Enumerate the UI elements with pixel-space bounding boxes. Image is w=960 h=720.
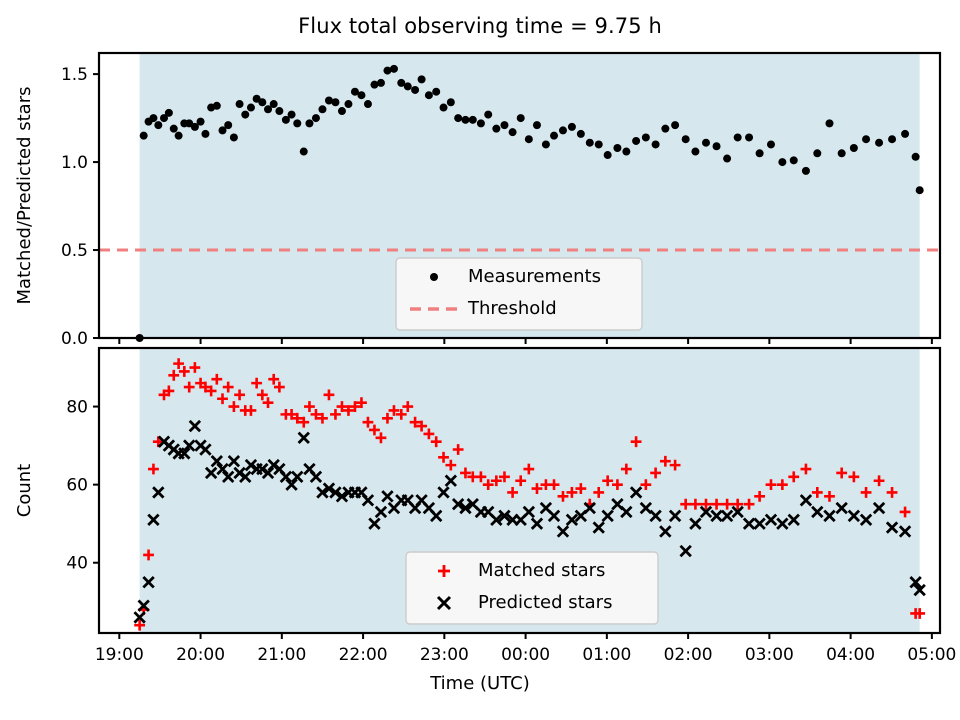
data-point-dot xyxy=(825,119,833,127)
y-tick-label: 0.0 xyxy=(61,329,88,349)
data-point-dot xyxy=(213,102,221,110)
data-point-dot xyxy=(492,125,500,133)
data-point-dot xyxy=(767,140,775,148)
data-point-dot xyxy=(318,105,326,113)
data-point-dot xyxy=(500,121,508,129)
data-point-dot xyxy=(357,91,365,99)
data-point-dot xyxy=(559,126,567,134)
x-tick-label: 05:00 xyxy=(907,645,956,665)
data-point-dot xyxy=(613,144,621,152)
data-point-dot xyxy=(542,140,550,148)
legend-label: Predicted stars xyxy=(478,592,612,613)
data-point-dot xyxy=(344,100,352,108)
data-point-dot xyxy=(236,100,244,108)
data-point-dot xyxy=(293,119,301,127)
data-point-dot xyxy=(197,118,205,126)
data-point-dot xyxy=(154,121,162,129)
data-point-dot xyxy=(586,139,594,147)
y-axis-label-bottom: Count xyxy=(14,464,35,517)
data-point-dot xyxy=(230,133,238,141)
data-point-dot xyxy=(632,137,640,145)
data-point-dot xyxy=(682,135,690,143)
data-point-dot xyxy=(447,98,455,106)
x-axis-label: Time (UTC) xyxy=(429,673,530,694)
data-point-dot xyxy=(338,107,346,115)
data-point-dot xyxy=(525,135,533,143)
x-tick-label: 19:00 xyxy=(95,645,144,665)
y-tick-label: 1.5 xyxy=(61,65,88,85)
data-point-dot xyxy=(432,88,440,96)
data-point-dot xyxy=(850,144,858,152)
data-point-dot xyxy=(875,139,883,147)
data-point-dot xyxy=(275,107,283,115)
figure-canvas: Flux total observing time = 9.75 h 0.00.… xyxy=(0,0,960,720)
x-tick-label: 01:00 xyxy=(582,645,631,665)
data-point-dot xyxy=(411,86,419,94)
data-point-dot xyxy=(723,155,731,163)
data-point-dot xyxy=(305,119,313,127)
legend-label: Threshold xyxy=(467,298,557,319)
data-point-dot xyxy=(258,98,266,106)
data-point-dot xyxy=(838,149,846,157)
data-point-dot xyxy=(165,109,173,117)
data-point-dot xyxy=(790,156,798,164)
data-point-dot xyxy=(862,135,870,143)
data-point-dot xyxy=(149,114,157,122)
data-point-dot xyxy=(175,132,183,140)
data-point-dot xyxy=(916,186,924,194)
data-point-dot xyxy=(247,104,255,112)
data-point-dot xyxy=(642,133,650,141)
data-point-dot xyxy=(713,142,721,150)
data-point-dot xyxy=(778,158,786,166)
y-axis-label-top: Matched/Predicted stars xyxy=(14,87,35,305)
x-tick-label: 02:00 xyxy=(664,645,713,665)
data-point-dot xyxy=(331,98,339,106)
data-point-dot xyxy=(469,116,477,124)
data-point-dot xyxy=(517,114,525,122)
data-point-dot xyxy=(509,128,517,136)
data-point-dot xyxy=(140,132,148,140)
data-point-dot xyxy=(745,133,753,141)
data-point-dot xyxy=(888,135,896,143)
plot-svg: 0.00.51.01.540608019:0020:0021:0022:0023… xyxy=(0,0,960,720)
y-tick-label: 80 xyxy=(66,398,88,418)
x-tick-label: 03:00 xyxy=(745,645,794,665)
data-point-dot xyxy=(241,111,249,119)
data-point-dot xyxy=(454,114,462,122)
data-point-dot xyxy=(170,125,178,133)
data-point-dot xyxy=(702,139,710,147)
data-point-dot xyxy=(912,153,920,161)
data-point-dot xyxy=(418,75,426,83)
data-point-dot xyxy=(691,148,699,156)
data-point-dot xyxy=(477,119,485,127)
data-point-dot xyxy=(201,130,209,138)
y-tick-label: 0.5 xyxy=(61,241,88,261)
data-point-dot xyxy=(300,148,308,156)
y-tick-label: 1.0 xyxy=(61,153,88,173)
data-point-dot xyxy=(390,65,398,73)
x-tick-label: 23:00 xyxy=(420,645,469,665)
legend-label: Matched stars xyxy=(478,560,605,581)
data-point-dot xyxy=(652,140,660,148)
y-tick-label: 40 xyxy=(66,554,88,574)
data-point-dot xyxy=(440,104,448,112)
data-point-dot xyxy=(622,148,630,156)
data-point-dot xyxy=(802,167,810,175)
data-point-dot xyxy=(577,130,585,138)
data-point-dot xyxy=(461,116,469,124)
data-point-dot xyxy=(604,151,612,159)
data-point-dot xyxy=(901,130,909,138)
x-tick-label: 00:00 xyxy=(501,645,550,665)
data-point-dot xyxy=(734,133,742,141)
data-point-dot xyxy=(270,100,278,108)
data-point-dot xyxy=(568,123,576,131)
x-tick-label: 21:00 xyxy=(257,645,306,665)
x-tick-label: 22:00 xyxy=(339,645,388,665)
data-point-dot xyxy=(533,121,541,129)
legend-marker-dot xyxy=(430,273,438,281)
data-point-dot xyxy=(224,121,232,129)
data-point-dot xyxy=(377,79,385,87)
data-point-dot xyxy=(756,149,764,157)
legend-label: Measurements xyxy=(468,266,601,287)
data-point-dot xyxy=(484,111,492,119)
data-point-dot xyxy=(364,100,372,108)
y-tick-label: 60 xyxy=(66,476,88,496)
data-point-dot xyxy=(671,121,679,129)
data-point-dot xyxy=(661,125,669,133)
data-point-dot xyxy=(404,82,412,90)
data-point-dot xyxy=(813,149,821,157)
data-point-dot xyxy=(595,140,603,148)
data-point-dot xyxy=(425,91,433,99)
x-tick-label: 04:00 xyxy=(826,645,875,665)
legend-bottom-panel[interactable]: Matched starsPredicted stars xyxy=(406,552,658,624)
data-point-dot xyxy=(312,114,320,122)
data-point-dot xyxy=(288,111,296,119)
legend-top-panel[interactable]: MeasurementsThreshold xyxy=(396,258,642,330)
x-tick-label: 20:00 xyxy=(176,645,225,665)
data-point-dot xyxy=(550,132,558,140)
